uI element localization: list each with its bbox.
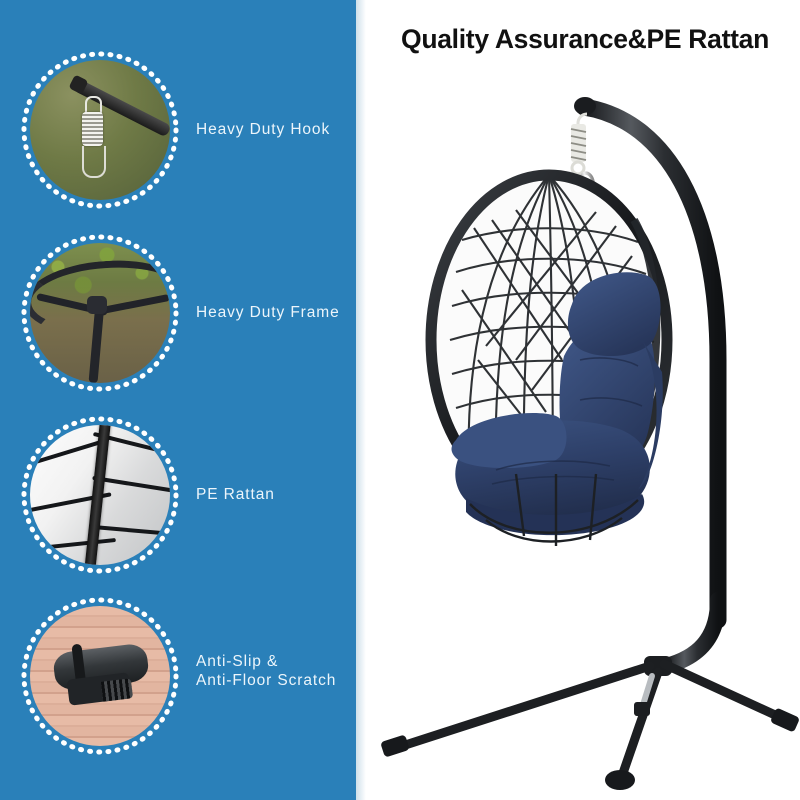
stand-base: [380, 600, 800, 790]
feature-photo-circle: [18, 413, 182, 577]
base-leg-left: [396, 666, 650, 748]
base-foot-left: [380, 734, 410, 757]
feature-item-anti-slip: Anti-Slip & Anti-Floor Scratch: [0, 594, 356, 762]
panel-divider: [356, 0, 366, 800]
feature-label: Heavy Duty Frame: [196, 303, 340, 322]
chain-top-ring: [572, 162, 584, 174]
base-foot-front: [605, 770, 635, 790]
product-infographic: Heavy Duty Hook Heavy Duty Frame: [0, 0, 800, 800]
heavy-duty-frame-photo: [30, 243, 170, 383]
feature-photo-circle: [18, 48, 182, 212]
egg-chair-illustration: [366, 60, 800, 800]
feature-label: Anti-Slip & Anti-Floor Scratch: [196, 652, 336, 690]
hanging-egg-chair-image: [366, 60, 800, 800]
suspension-spring: [571, 124, 586, 162]
product-panel: Quality Assurance&PE Rattan: [366, 0, 800, 800]
feature-item-heavy-duty-hook: Heavy Duty Hook: [0, 48, 356, 216]
base-leg-right: [664, 664, 786, 720]
feature-label: PE Rattan: [196, 485, 275, 504]
feature-photo-circle: [18, 594, 182, 758]
pe-rattan-photo: [30, 425, 170, 565]
heavy-duty-hook-photo: [30, 60, 170, 200]
feature-item-heavy-duty-frame: Heavy Duty Frame: [0, 231, 356, 399]
pole-end-cap: [574, 97, 596, 115]
feature-photo-circle: [18, 231, 182, 395]
page-title: Quality Assurance&PE Rattan: [370, 24, 800, 55]
anti-slip-foot-photo: [30, 606, 170, 746]
feature-label: Heavy Duty Hook: [196, 120, 330, 139]
feature-item-pe-rattan: PE Rattan: [0, 413, 356, 581]
base-leg-front: [622, 672, 658, 776]
